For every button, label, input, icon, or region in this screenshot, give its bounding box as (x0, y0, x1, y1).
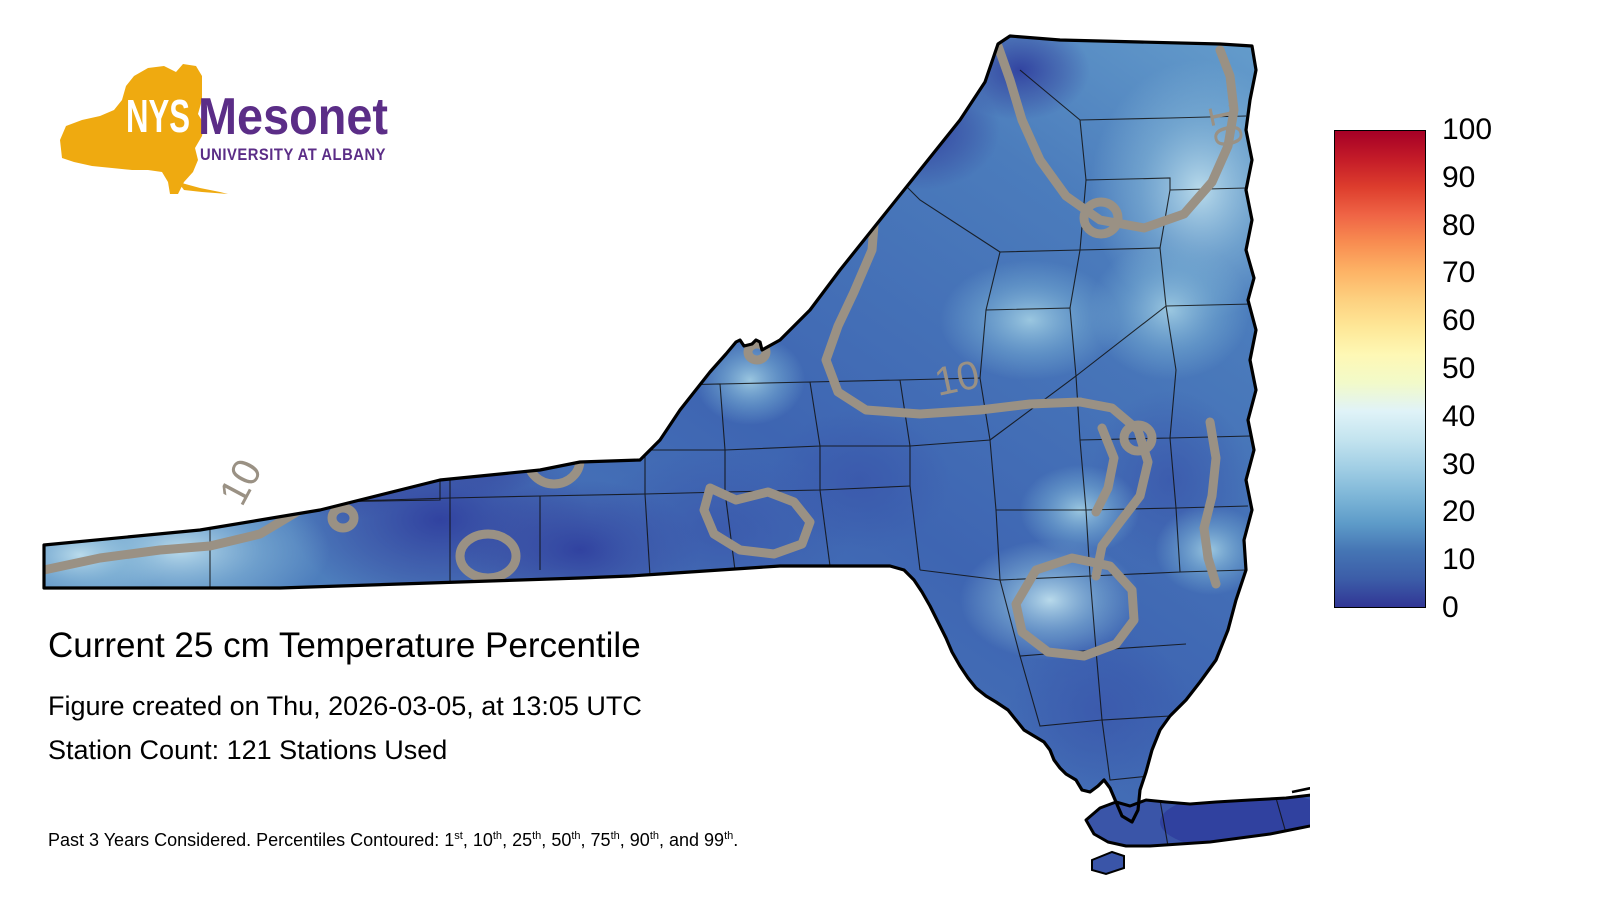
contour-footnote: Past 3 Years Considered. Percentiles Con… (48, 828, 738, 852)
contour-label-central: 10 (931, 353, 984, 405)
figure-title: Current 25 cm Temperature Percentile (48, 624, 1048, 668)
footnote-ordinal-75: 75th (591, 830, 620, 850)
colorbar-tick-20: 20 (1442, 497, 1475, 527)
colorbar-gradient (1334, 130, 1426, 608)
colorbar-tick-90: 90 (1442, 163, 1475, 193)
contour-label-west: 10 (211, 452, 271, 512)
footnote-ordinal-25: 25th (512, 830, 541, 850)
footnote-ordinal-50: 50th (551, 830, 580, 850)
contour-label-northeast: 10 (1199, 99, 1251, 152)
colorbar-tick-70: 70 (1442, 258, 1475, 288)
colorbar-tick-0: 0 (1442, 593, 1459, 623)
colorbar-tick-50: 50 (1442, 354, 1475, 384)
colorbar: 1009080706050403020100 (1334, 122, 1584, 622)
footnote-ordinal-99: 99th (704, 830, 733, 850)
staten-island (1092, 852, 1124, 874)
figure-canvas: NYS Mesonet UNIVERSITY AT ALBANY (0, 0, 1600, 900)
colorbar-tick-100: 100 (1442, 115, 1492, 145)
colorbar-tick-10: 10 (1442, 545, 1475, 575)
colorbar-tick-60: 60 (1442, 306, 1475, 336)
colorbar-tick-labels: 1009080706050403020100 (1442, 122, 1582, 616)
footnote-ordinal-90: 90th (630, 830, 659, 850)
colorbar-tick-30: 30 (1442, 450, 1475, 480)
caption-block: Current 25 cm Temperature Percentile Fig… (48, 624, 1048, 770)
colorbar-tick-80: 80 (1442, 211, 1475, 241)
north-fork-outline (1292, 748, 1310, 792)
colorbar-tick-40: 40 (1442, 402, 1475, 432)
station-count: Station Count: 121 Stations Used (48, 730, 1048, 770)
footnote-ordinal-10: 10th (473, 830, 502, 850)
footnote-ordinal-1: 1st (444, 830, 463, 850)
created-timestamp: Figure created on Thu, 2026-03-05, at 13… (48, 686, 1048, 726)
